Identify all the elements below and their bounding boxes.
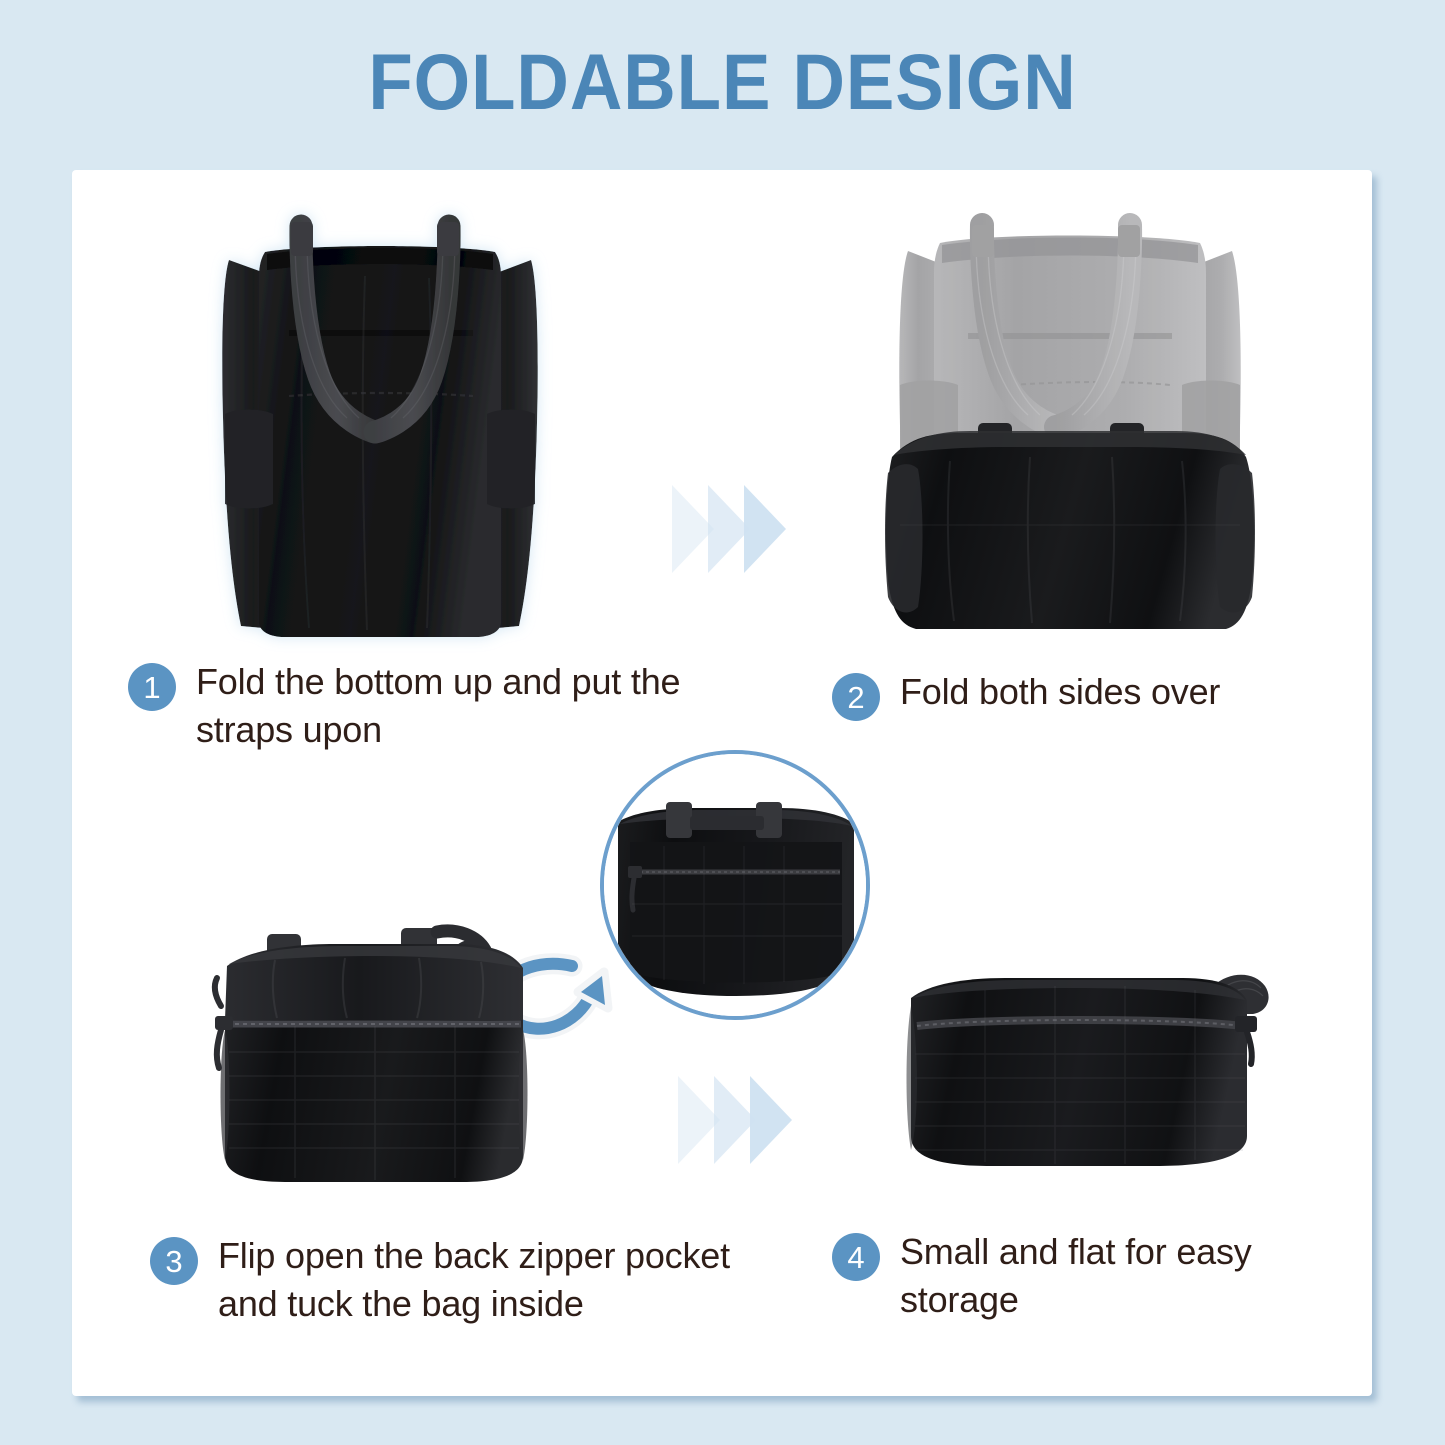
step-3-caption: 3 Flip open the back zipper pocket and t… <box>150 1232 750 1328</box>
step-3-badge: 3 <box>150 1237 198 1285</box>
step-1-badge: 1 <box>128 663 176 711</box>
step-1-caption-text: Fold the bottom up and put the straps up… <box>196 658 688 754</box>
flat-pouch-illustration <box>895 950 1275 1190</box>
chevron-right-icon <box>744 485 786 573</box>
chevron-group-1 <box>672 485 792 575</box>
step-2-caption-text: Fold both sides over <box>900 668 1220 716</box>
step-2-image <box>870 225 1270 650</box>
step-4-caption: 4 Small and flat for easy storage <box>832 1228 1332 1324</box>
step-4-image <box>895 950 1275 1190</box>
back-zipper-pocket-illustration <box>604 754 866 1016</box>
step-1-caption: 1 Fold the bottom up and put the straps … <box>128 658 688 754</box>
infographic-canvas: FOLDABLE DESIGN <box>0 0 1445 1445</box>
tote-bag-folded-bottom-illustration <box>870 225 1270 650</box>
chevron-right-icon <box>750 1076 792 1164</box>
step-2-caption: 2 Fold both sides over <box>832 668 1312 721</box>
step-3-caption-text: Flip open the back zipper pocket and tuc… <box>218 1232 750 1328</box>
step-1-image <box>215 218 545 648</box>
step-4-caption-text: Small and flat for easy storage <box>900 1228 1332 1324</box>
folded-bag-zipper-illustration <box>205 920 545 1200</box>
tote-bag-upright-illustration <box>215 218 545 648</box>
page-title: FOLDABLE DESIGN <box>58 36 1387 128</box>
step-4-badge: 4 <box>832 1233 880 1281</box>
step-3-image <box>205 920 545 1200</box>
step-2-badge: 2 <box>832 673 880 721</box>
chevron-group-2 <box>678 1076 798 1166</box>
